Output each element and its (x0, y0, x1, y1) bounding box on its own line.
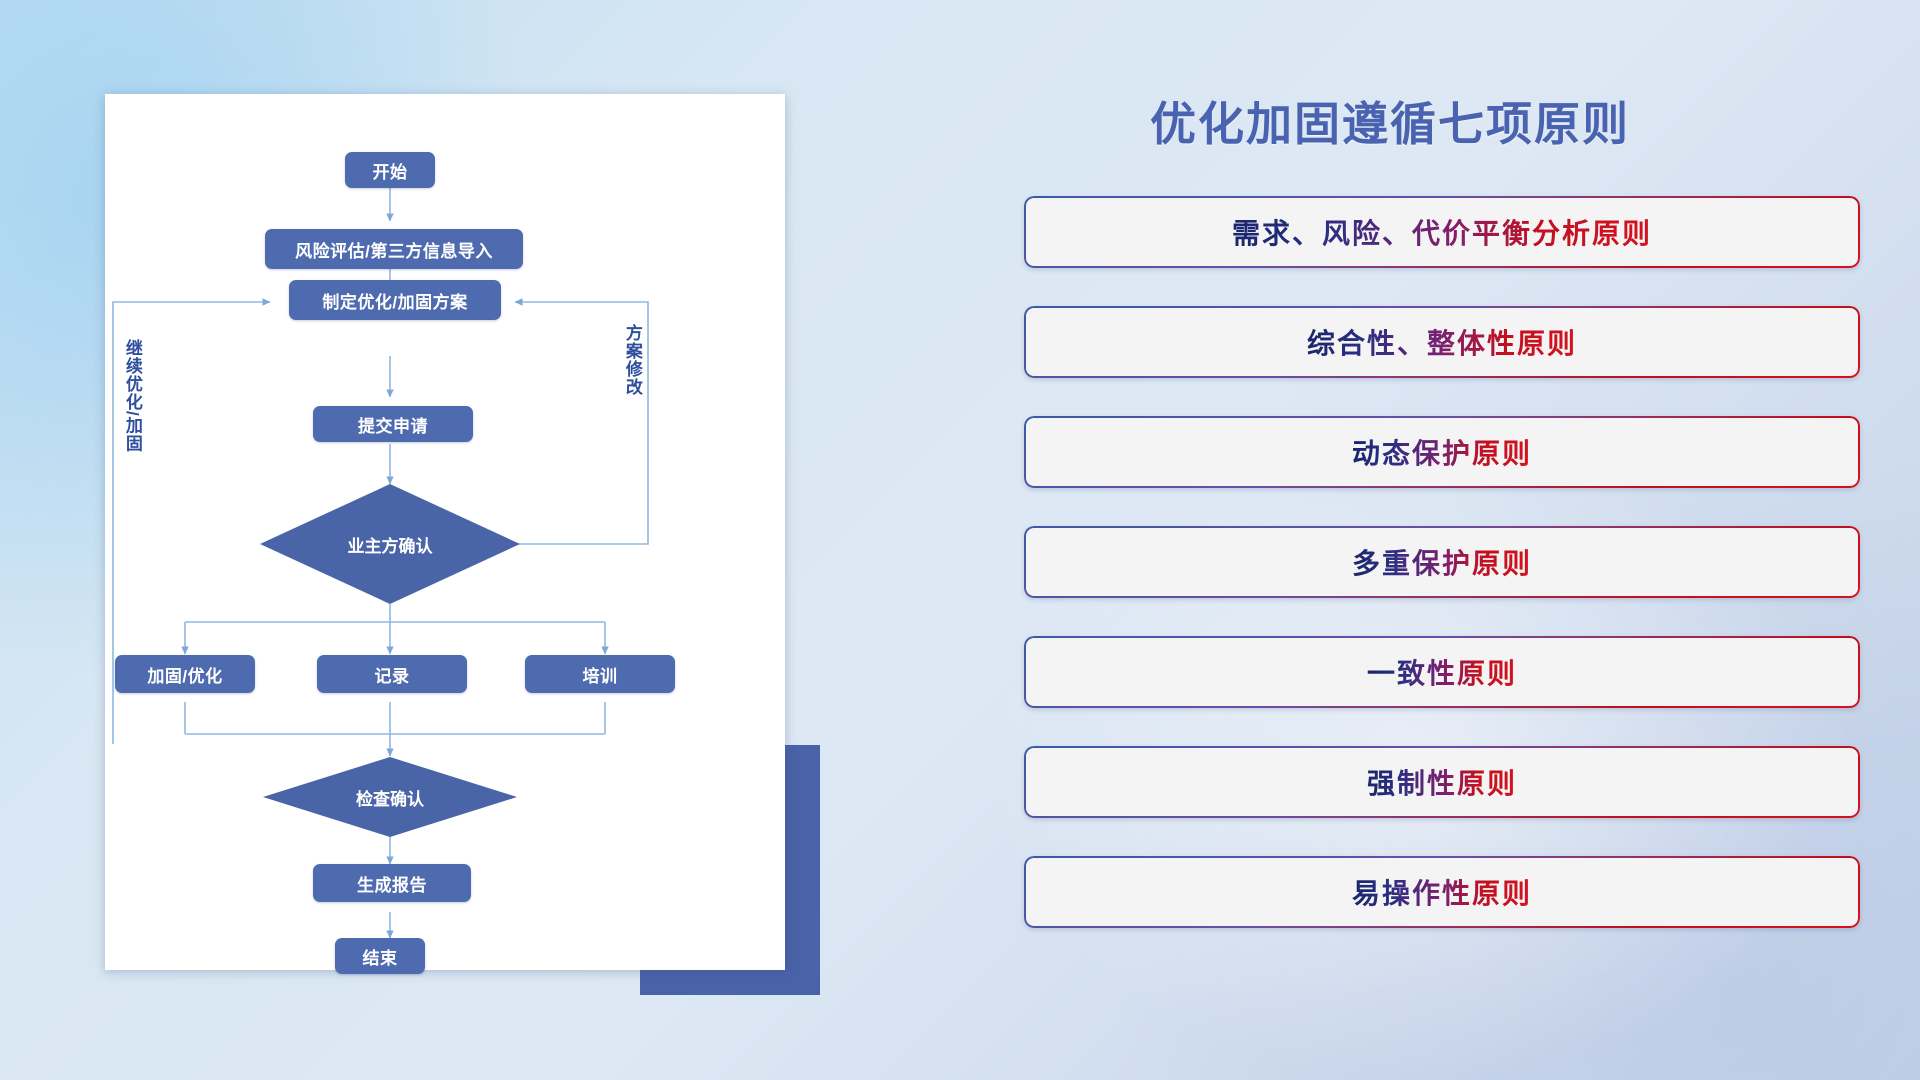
principle-label: 易操作性原则 (1352, 872, 1532, 912)
flow-node-training[interactable]: 培训 (525, 655, 675, 693)
principle-label: 动态保护原则 (1352, 432, 1532, 472)
page-title: 优化加固遵循七项原则 (1010, 88, 1870, 154)
flow-node-record[interactable]: 记录 (317, 655, 467, 693)
flow-node-start[interactable]: 开始 (345, 152, 435, 188)
flow-edge-label-continue-optimize: 继续优化/加固 (123, 339, 141, 453)
principle-card[interactable]: 综合性、整体性原则 (1024, 306, 1860, 378)
principle-label: 一致性原则 (1367, 652, 1517, 692)
principle-card[interactable]: 强制性原则 (1024, 746, 1860, 818)
flow-edge-label-plan-revision: 方案修改 (623, 324, 641, 396)
principle-label: 多重保护原则 (1352, 542, 1532, 582)
flow-node-submit-application[interactable]: 提交申请 (313, 406, 473, 442)
principles-panel: 优化加固遵循七项原则 需求、风险、代价平衡分析原则 综合性、整体性原则 动态保护… (1010, 88, 1870, 1018)
flow-node-plan[interactable]: 制定优化/加固方案 (289, 280, 501, 320)
principle-card[interactable]: 多重保护原则 (1024, 526, 1860, 598)
principle-card[interactable]: 一致性原则 (1024, 636, 1860, 708)
principle-card[interactable]: 动态保护原则 (1024, 416, 1860, 488)
principle-card[interactable]: 易操作性原则 (1024, 856, 1860, 928)
flowchart-card: 开始 风险评估/第三方信息导入 制定优化/加固方案 提交申请 业主方确认 加固/… (105, 94, 785, 970)
flow-node-generate-report[interactable]: 生成报告 (313, 864, 471, 902)
flow-node-end[interactable]: 结束 (335, 938, 425, 974)
principle-label: 强制性原则 (1367, 762, 1517, 802)
flow-node-reinforce[interactable]: 加固/优化 (115, 655, 255, 693)
flow-node-risk-assessment[interactable]: 风险评估/第三方信息导入 (265, 229, 523, 269)
principle-label: 需求、风险、代价平衡分析原则 (1232, 212, 1652, 252)
principle-label: 综合性、整体性原则 (1307, 322, 1577, 362)
principle-card[interactable]: 需求、风险、代价平衡分析原则 (1024, 196, 1860, 268)
